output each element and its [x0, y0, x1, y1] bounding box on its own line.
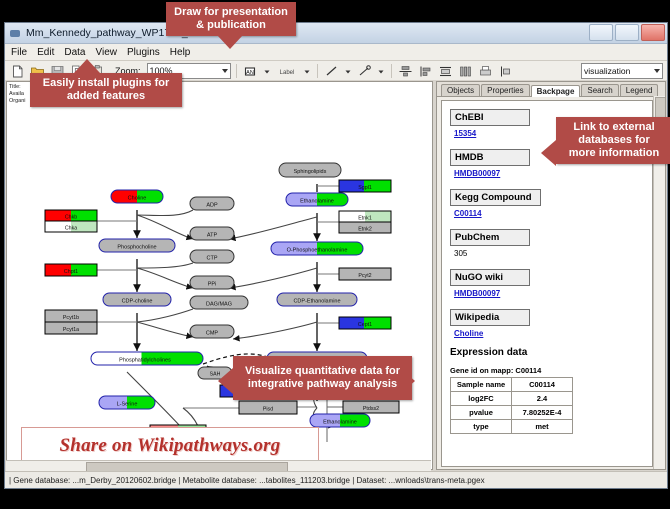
expression-data-title: Expression data	[450, 347, 644, 358]
callout-link-line2: databases for	[562, 134, 666, 147]
menu-data[interactable]: Data	[64, 47, 85, 58]
svg-text:Pcyt1a: Pcyt1a	[63, 327, 79, 333]
app-icon	[9, 27, 21, 39]
svg-text:Label: Label	[279, 70, 294, 76]
node-sphingolipids: Sphingolipids	[279, 163, 341, 177]
exp-key-2: pvalue	[451, 406, 512, 420]
expression-table: Sample nameC00114 log2FC2.4 pvalue7.8025…	[450, 377, 573, 434]
tab-backpage[interactable]: Backpage	[531, 85, 581, 97]
pathway-canvas[interactable]: Title: Availa Organi	[6, 81, 433, 470]
pathway-graphic[interactable]: Sphingolipids Ethanolamine O-Phosphoetha…	[7, 82, 430, 470]
svg-text:CDP-Ethanolamine: CDP-Ethanolamine	[293, 299, 340, 305]
callout-visualize-line1: Visualize quantitative data for	[239, 365, 406, 378]
group-icon[interactable]	[437, 63, 454, 80]
print-icon[interactable]	[477, 63, 494, 80]
db-link-wikipedia[interactable]: Choline	[454, 329, 644, 338]
callout-plugins-line2: added features	[36, 90, 176, 103]
node-atp: ATP	[190, 227, 234, 240]
callout-draw: Draw for presentation & publication	[166, 2, 296, 36]
exp-key-1: log2FC	[451, 392, 512, 406]
db-value-pubchem: 305	[454, 249, 644, 258]
callout-link-line3: more information	[562, 147, 666, 160]
align-left-icon[interactable]	[417, 63, 434, 80]
node-l-serine-left: L-Serine	[99, 396, 155, 409]
svg-text:Etnk2: Etnk2	[358, 226, 372, 232]
exp-key-0: Sample name	[451, 378, 512, 392]
svg-text:Sphingolipids: Sphingolipids	[294, 169, 327, 175]
gene-pcyt2: Pcyt2	[339, 268, 391, 280]
svg-text:DAG/MAG: DAG/MAG	[206, 302, 232, 308]
gene-etnk1: Etnk1	[339, 211, 391, 222]
svg-text:Cept1: Cept1	[358, 322, 372, 328]
canvas-horizontal-scrollbar[interactable]	[6, 460, 431, 471]
svg-text:Ethanolamine: Ethanolamine	[323, 420, 357, 426]
visualization-combo[interactable]: visualization	[581, 63, 663, 79]
node-phosphocholine: Phosphocholine	[99, 239, 175, 252]
svg-text:Ethanolamine: Ethanolamine	[300, 199, 334, 205]
callout-plugins: Easily install plugins for added feature…	[30, 73, 182, 107]
title-bar: Mm_Kennedy_pathway_WP1771_45176.gpml	[5, 23, 667, 44]
node-ethanolamine: Ethanolamine	[286, 193, 348, 206]
node-phosphatidylcholines: Phosphatidylcholines	[91, 352, 203, 365]
svg-text:PPi: PPi	[208, 282, 217, 288]
svg-text:ADP: ADP	[206, 203, 218, 209]
callout-plugins-arrow	[74, 59, 100, 73]
menu-help[interactable]: Help	[170, 47, 191, 58]
svg-text:Chkb: Chkb	[65, 215, 77, 221]
share-text: Share on Wikipathways.org	[60, 435, 281, 457]
gene-chkb: Chkb	[45, 210, 97, 221]
exp-key-3: type	[451, 420, 512, 434]
gene-chpt1: Chpt1	[45, 264, 97, 276]
screenshot-root: Mm_Kennedy_pathway_WP1771_45176.gpml Fil…	[0, 0, 670, 509]
label-icon[interactable]: Label	[275, 63, 299, 80]
svg-text:CMP: CMP	[206, 331, 219, 337]
chevron-down-icon	[222, 69, 228, 73]
menu-view[interactable]: View	[95, 47, 117, 58]
new-file-icon[interactable]	[9, 63, 26, 80]
gene-id-on-mapp: Gene id on mapp: C00114	[450, 366, 644, 375]
menu-bar: File Edit Data View Plugins Help	[5, 44, 667, 61]
exp-val-2: 7.80252E-4	[512, 406, 573, 420]
callout-visualize-arrow-left	[218, 368, 233, 394]
db-link-hmdb[interactable]: HMDB00097	[454, 169, 644, 178]
callout-link-arrow	[541, 140, 556, 166]
visualization-value: visualization	[584, 66, 630, 76]
svg-text:Pcyt1b: Pcyt1b	[63, 315, 79, 321]
line-icon[interactable]	[323, 63, 340, 80]
node-o-phosphoethanolamine: O-Phosphoethanolamine	[271, 242, 363, 255]
svg-text:Ptdss2: Ptdss2	[363, 406, 379, 412]
datanode-icon[interactable]: AN	[242, 63, 259, 80]
svg-text:Sgpl1: Sgpl1	[358, 185, 372, 191]
exp-val-3: met	[512, 420, 573, 434]
tab-objects[interactable]: Objects	[441, 84, 480, 96]
db-link-nugowiki[interactable]: HMDB00097	[454, 289, 644, 298]
distribute-icon[interactable]	[457, 63, 474, 80]
interaction-icon[interactable]	[356, 63, 373, 80]
svg-text:Pisd: Pisd	[263, 406, 273, 412]
callout-draw-line2: & publication	[172, 19, 290, 32]
menu-plugins[interactable]: Plugins	[127, 47, 160, 58]
svg-text:ATP: ATP	[207, 233, 218, 239]
toolbar-separator	[236, 64, 237, 78]
exp-val-0: C00114	[512, 378, 573, 392]
node-cmp: CMP	[190, 325, 234, 338]
interaction-dropdown-icon[interactable]	[376, 63, 386, 80]
label-dropdown-icon[interactable]	[302, 63, 312, 80]
toolbar-separator-2	[317, 64, 318, 78]
window-buttons	[589, 24, 665, 41]
node-dag-mag: DAG/MAG	[190, 296, 248, 309]
gene-chka: Chka	[45, 221, 97, 232]
callout-visualize-arrow-right	[400, 368, 415, 394]
callout-plugins-line1: Easily install plugins for	[36, 77, 176, 90]
tab-search[interactable]: Search	[581, 84, 618, 96]
svg-text:Chpt1: Chpt1	[64, 269, 78, 275]
gene-pcyt1a: Pcyt1a	[45, 322, 97, 334]
table-row: log2FC2.4	[451, 392, 573, 406]
tab-properties[interactable]: Properties	[481, 84, 529, 96]
node-ethanolamine-lower: Ethanolamine	[310, 414, 370, 427]
datanode-dropdown-icon[interactable]	[262, 63, 272, 80]
svg-text:CDP-choline: CDP-choline	[122, 299, 153, 305]
svg-text:AN: AN	[246, 69, 254, 75]
db-header-wikipedia: Wikipedia	[450, 309, 530, 326]
db-header-hmdb: HMDB	[450, 149, 530, 166]
svg-text:Phosphatidylcholines: Phosphatidylcholines	[119, 358, 171, 364]
node-choline-top: Choline	[111, 190, 163, 203]
toolbar-separator-3	[391, 64, 392, 78]
table-row: pvalue7.80252E-4	[451, 406, 573, 420]
minimize-button[interactable]	[589, 24, 613, 41]
node-ctp: CTP	[190, 250, 234, 263]
callout-link-line1: Link to external	[562, 121, 666, 134]
callout-link: Link to external databases for more info…	[556, 117, 670, 164]
svg-text:Phosphocholine: Phosphocholine	[117, 245, 156, 251]
node-cdp-ethanolamine: CDP-Ethanolamine	[277, 293, 357, 306]
db-header-pubchem: PubChem	[450, 229, 530, 246]
db-header-nugowiki: NuGO wiki	[450, 269, 530, 286]
node-cdp-choline: CDP-choline	[103, 293, 171, 306]
callout-draw-arrow	[217, 35, 243, 49]
menu-edit[interactable]: Edit	[37, 47, 54, 58]
exp-val-1: 2.4	[512, 392, 573, 406]
gene-etnk2: Etnk2	[339, 222, 391, 233]
table-row: Sample nameC00114	[451, 378, 573, 392]
gene-sgpl1: Sgpl1	[339, 180, 391, 192]
callout-draw-line1: Draw for presentation	[172, 6, 290, 19]
callout-visualize: Visualize quantitative data for integrat…	[233, 356, 412, 400]
svg-text:O-Phosphoethanolamine: O-Phosphoethanolamine	[287, 248, 348, 254]
table-row: typemet	[451, 420, 573, 434]
node-adp: ADP	[190, 197, 234, 210]
db-header-chebi: ChEBI	[450, 109, 530, 126]
gene-pisd: Pisd	[239, 401, 297, 414]
svg-text:Choline: Choline	[128, 196, 147, 202]
node-ppi: PPi	[190, 276, 234, 289]
svg-text:CTP: CTP	[207, 256, 218, 262]
close-button[interactable]	[641, 24, 665, 41]
order-icon[interactable]	[497, 63, 514, 80]
menu-file[interactable]: File	[11, 47, 27, 58]
align-icon[interactable]	[397, 63, 414, 80]
status-bar: | Gene database: ...m_Derby_20120602.bri…	[5, 471, 667, 488]
svg-text:Pcyt2: Pcyt2	[358, 273, 371, 279]
gene-pcyt1b: Pcyt1b	[45, 310, 97, 322]
svg-text:L-Serine: L-Serine	[117, 402, 138, 408]
chevron-down-icon-2	[654, 69, 660, 73]
line-dropdown-icon[interactable]	[343, 63, 353, 80]
gene-ptdss2: Ptdss2	[343, 401, 399, 413]
db-header-kegg: Kegg Compound	[450, 189, 541, 206]
maximize-button[interactable]	[615, 24, 639, 41]
status-text: | Gene database: ...m_Derby_20120602.bri…	[5, 476, 485, 485]
db-link-kegg[interactable]: C00114	[454, 209, 644, 218]
svg-text:Chka: Chka	[65, 226, 77, 232]
svg-text:Etnk1: Etnk1	[358, 215, 372, 221]
tab-legend[interactable]: Legend	[620, 84, 659, 96]
gene-cept1: Cept1	[339, 317, 391, 329]
callout-visualize-line2: integrative pathway analysis	[239, 378, 406, 391]
side-tab-bar: Objects Properties Backpage Search Legen…	[437, 82, 665, 97]
